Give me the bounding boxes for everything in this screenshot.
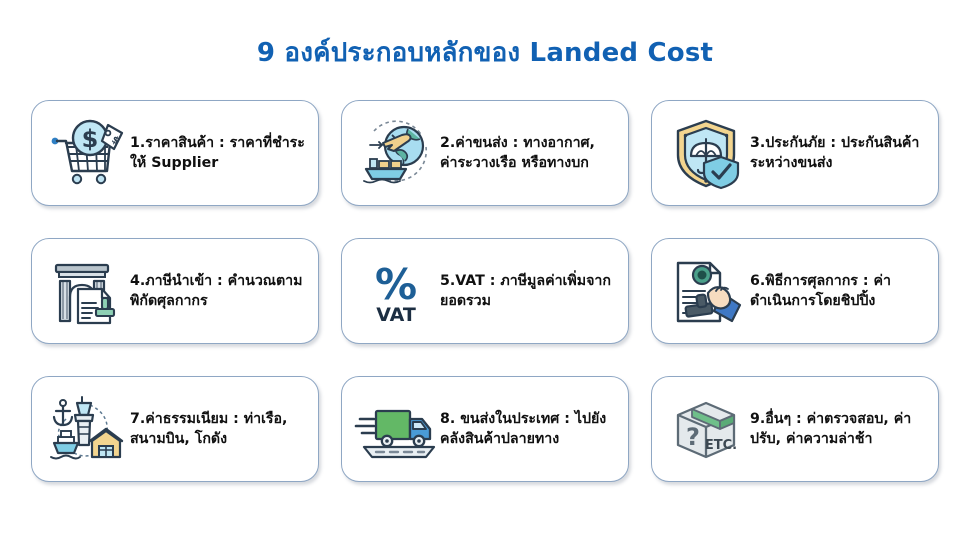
component-card-4-label: 4.ภาษีนำเข้า : คำนวณตามพิกัดศุลกากร xyxy=(128,271,308,311)
component-card-3-label: 3.ประกันภัย : ประกันสินค้าระหว่างขนส่ง xyxy=(748,133,928,173)
globe-plane-cargo-ship-icon xyxy=(354,111,438,195)
component-card-6-label: 6.พิธีการศุลกากร : ค่าดำเนินการโดยชิปปิ้… xyxy=(748,271,928,311)
box-question-etc-icon: ? ETC. xyxy=(664,387,748,471)
landed-cost-components-grid: $ $ 1.ราคาสินค้า : ราคาที่ชำระให้ Suppli… xyxy=(31,100,939,482)
component-card-8-label: 8. ขนส่งในประเทศ : ไปยังคลังสินค้าปลายทา… xyxy=(438,409,618,449)
component-card-9[interactable]: ? ETC. 9.อื่นๆ : ค่าตรวจสอบ, ค่าปรับ, ค่… xyxy=(651,376,939,482)
component-card-4[interactable]: 4.ภาษีนำเข้า : คำนวณตามพิกัดศุลกากร xyxy=(31,238,319,344)
customs-arch-document-stamp-icon xyxy=(44,249,128,333)
component-card-5[interactable]: % VAT 5.VAT : ภาษีมูลค่าเพิ่มจากยอดรวม xyxy=(341,238,629,344)
component-card-2-label: 2.ค่าขนส่ง : ทางอากาศ, ค่าระวางเรือ หรือ… xyxy=(438,133,618,173)
component-card-5-label: 5.VAT : ภาษีมูลค่าเพิ่มจากยอดรวม xyxy=(438,271,618,311)
component-card-2[interactable]: 2.ค่าขนส่ง : ทางอากาศ, ค่าระวางเรือ หรือ… xyxy=(341,100,629,206)
page-title: 9 องค์ประกอบหลักของ Landed Cost xyxy=(0,38,970,69)
percent-vat-icon: % VAT xyxy=(354,249,438,333)
svg-text:?: ? xyxy=(686,423,700,451)
component-card-8[interactable]: 8. ขนส่งในประเทศ : ไปยังคลังสินค้าปลายทา… xyxy=(341,376,629,482)
port-airport-warehouse-icon xyxy=(44,387,128,471)
component-card-3[interactable]: 3.ประกันภัย : ประกันสินค้าระหว่างขนส่ง xyxy=(651,100,939,206)
svg-text:%: % xyxy=(375,260,417,309)
component-card-7-label: 7.ค่าธรรมเนียม : ท่าเรือ, สนามบิน, โกดัง xyxy=(128,409,308,449)
svg-text:ETC.: ETC. xyxy=(705,438,737,453)
component-card-9-label: 9.อื่นๆ : ค่าตรวจสอบ, ค่าปรับ, ค่าความล่… xyxy=(748,409,928,449)
shield-umbrella-check-icon xyxy=(664,111,748,195)
delivery-truck-icon xyxy=(354,387,438,471)
svg-text:$: $ xyxy=(82,125,99,153)
component-card-1[interactable]: $ $ 1.ราคาสินค้า : ราคาที่ชำระให้ Suppli… xyxy=(31,100,319,206)
component-card-6[interactable]: 6.พิธีการศุลกากร : ค่าดำเนินการโดยชิปปิ้… xyxy=(651,238,939,344)
component-card-1-label: 1.ราคาสินค้า : ราคาที่ชำระให้ Supplier xyxy=(128,133,308,173)
svg-text:VAT: VAT xyxy=(376,304,416,326)
document-hand-stamp-icon xyxy=(664,249,748,333)
component-card-7[interactable]: 7.ค่าธรรมเนียม : ท่าเรือ, สนามบิน, โกดัง xyxy=(31,376,319,482)
shopping-cart-price-tag-icon: $ $ xyxy=(44,111,128,195)
